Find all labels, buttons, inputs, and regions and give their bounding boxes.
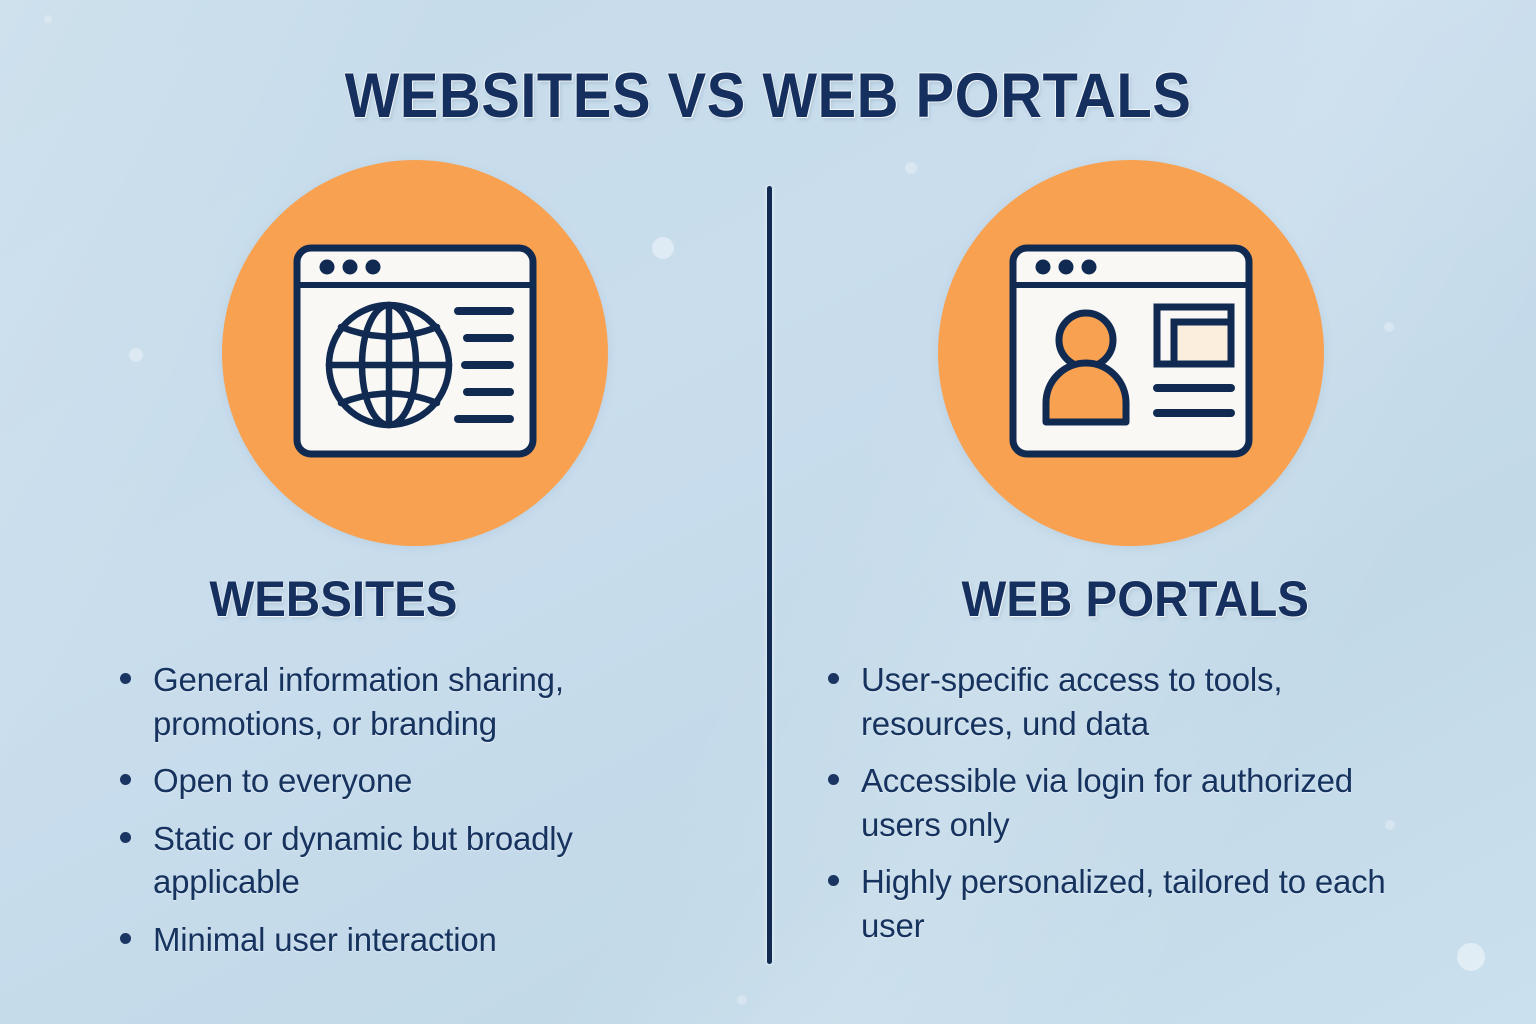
- list-item-label: Accessible via login for authorized user…: [861, 762, 1353, 843]
- globe-browser-window-icon: [222, 160, 608, 546]
- list-item-label: Open to everyone: [153, 762, 412, 799]
- list-item-label: User-specific access to tools, resources…: [861, 661, 1282, 742]
- column-heading-websites: WEBSITES: [38, 570, 722, 628]
- bullet-list-websites: General information sharing, promotions,…: [20, 658, 660, 961]
- list-item-label: Static or dynamic but broadly applicable: [153, 820, 573, 901]
- list-item: General information sharing, promotions,…: [120, 658, 660, 745]
- list-item: Highly personalized, tailored to each us…: [828, 860, 1440, 947]
- bullet-dot-icon: [120, 673, 131, 684]
- vertical-divider: [767, 186, 772, 964]
- list-item: User-specific access to tools, resources…: [828, 658, 1440, 745]
- list-item: Minimal user interaction: [120, 918, 660, 962]
- page-title: WEBSITES VS WEB PORTALS: [61, 60, 1474, 132]
- soft-dot: [44, 15, 52, 23]
- bullet-dot-icon: [828, 875, 839, 886]
- list-item-label: General information sharing, promotions,…: [153, 661, 564, 742]
- list-item-label: Minimal user interaction: [153, 921, 497, 958]
- bullet-dot-icon: [828, 774, 839, 785]
- list-item: Accessible via login for authorized user…: [828, 759, 1440, 846]
- infographic-canvas: WEBSITES VS WEB PORTALS: [0, 0, 1536, 1024]
- soft-dot: [737, 995, 747, 1005]
- bullet-dot-icon: [120, 933, 131, 944]
- bullet-list-web-portals: User-specific access to tools, resources…: [780, 658, 1440, 947]
- column-web-portals: WEB PORTALS User-specific access to tool…: [780, 160, 1500, 961]
- list-item-label: Highly personalized, tailored to each us…: [861, 863, 1386, 944]
- list-item: Open to everyone: [120, 759, 660, 803]
- bullet-dot-icon: [828, 673, 839, 684]
- bullet-dot-icon: [120, 832, 131, 843]
- column-websites: WEBSITES General information sharing, pr…: [20, 160, 740, 975]
- column-heading-web-portals: WEB PORTALS: [798, 570, 1482, 628]
- bullet-dot-icon: [120, 774, 131, 785]
- user-dashboard-browser-window-icon: [938, 160, 1324, 546]
- list-item: Static or dynamic but broadly applicable: [120, 817, 660, 904]
